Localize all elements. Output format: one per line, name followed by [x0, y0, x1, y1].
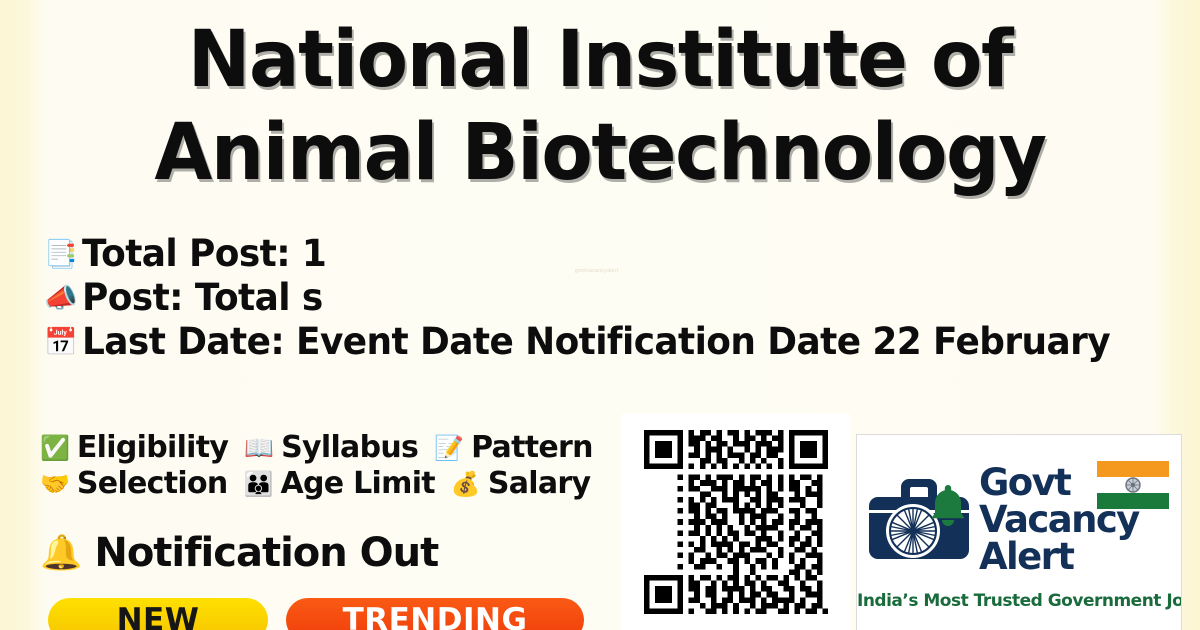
people-group-icon: 👪: [244, 472, 274, 496]
feature-row-1: ✅ Eligibility 📖 Syllabus 📝 Pattern: [40, 430, 640, 466]
megaphone-badge-icon: 📣: [44, 285, 82, 312]
title-line-2: Animal Biotechnology: [24, 107, 1176, 200]
feature-row-2: 🤝 Selection 👪 Age Limit 💰 Salary: [40, 466, 640, 502]
feature-eligibility-label: Eligibility: [77, 430, 228, 466]
info-last-date-text: Last Date: Event Date Notification Date …: [82, 320, 1110, 364]
info-total-post-text: Total Post: 1: [82, 232, 326, 276]
bell-notification-icon: 🔔: [40, 536, 82, 570]
feature-salary[interactable]: 💰 Salary: [451, 466, 590, 502]
feature-pattern-label: Pattern: [471, 430, 593, 466]
feature-pattern[interactable]: 📝 Pattern: [434, 430, 593, 466]
badge-row: NEW TRENDING: [48, 598, 584, 630]
info-row-last-date: 📅 Last Date: Event Date Notification Dat…: [44, 320, 1200, 364]
document-search-icon: 📑: [44, 241, 82, 268]
feature-syllabus[interactable]: 📖 Syllabus: [244, 430, 418, 466]
feature-age-limit[interactable]: 👪 Age Limit: [244, 466, 435, 502]
india-flag-icon: [1097, 461, 1169, 509]
feature-list: ✅ Eligibility 📖 Syllabus 📝 Pattern 🤝 Sel…: [40, 430, 640, 502]
poster-canvas: National Institute of Animal Biotechnolo…: [0, 0, 1200, 630]
info-row-total-post: 📑 Total Post: 1: [44, 232, 1200, 276]
open-book-pen-icon: 📖: [244, 436, 274, 460]
feature-salary-label: Salary: [488, 466, 591, 502]
selection-handshake-icon: 🤝: [40, 472, 70, 496]
trending-badge[interactable]: TRENDING: [286, 598, 584, 630]
feature-selection[interactable]: 🤝 Selection: [40, 466, 228, 502]
poster-title: National Institute of Animal Biotechnolo…: [0, 14, 1200, 200]
info-lines: 📑 Total Post: 1 📣 Post: Total s 📅 Last D…: [44, 232, 1200, 364]
qr-panel[interactable]: [622, 414, 850, 630]
brand-tagline: India’s Most Trusted Government Job Aler…: [857, 591, 1182, 611]
feature-syllabus-label: Syllabus: [281, 430, 418, 466]
calendar-icon: 📅: [44, 329, 82, 356]
exam-paper-icon: 📝: [434, 436, 464, 460]
info-post-text: Post: Total s: [82, 276, 323, 320]
feature-selection-label: Selection: [77, 466, 228, 502]
info-row-post: 📣 Post: Total s: [44, 276, 1200, 320]
brand-logo-card: Govt Vacancy Alert India’s Most Trusted …: [856, 434, 1182, 630]
briefcase-chakra-bell-icon: [863, 463, 975, 575]
money-bag-icon: 💰: [451, 472, 481, 496]
feature-eligibility[interactable]: ✅ Eligibility: [40, 430, 228, 466]
brand-line-3: Alert: [979, 538, 1139, 575]
new-badge[interactable]: NEW: [48, 598, 268, 630]
check-mark-icon: ✅: [40, 436, 70, 460]
notification-out-heading: 🔔 Notification Out: [40, 528, 438, 578]
title-line-1: National Institute of: [24, 14, 1176, 107]
feature-age-limit-label: Age Limit: [280, 466, 434, 502]
notification-out-label: Notification Out: [94, 528, 438, 578]
qr-code[interactable]: [644, 430, 828, 614]
